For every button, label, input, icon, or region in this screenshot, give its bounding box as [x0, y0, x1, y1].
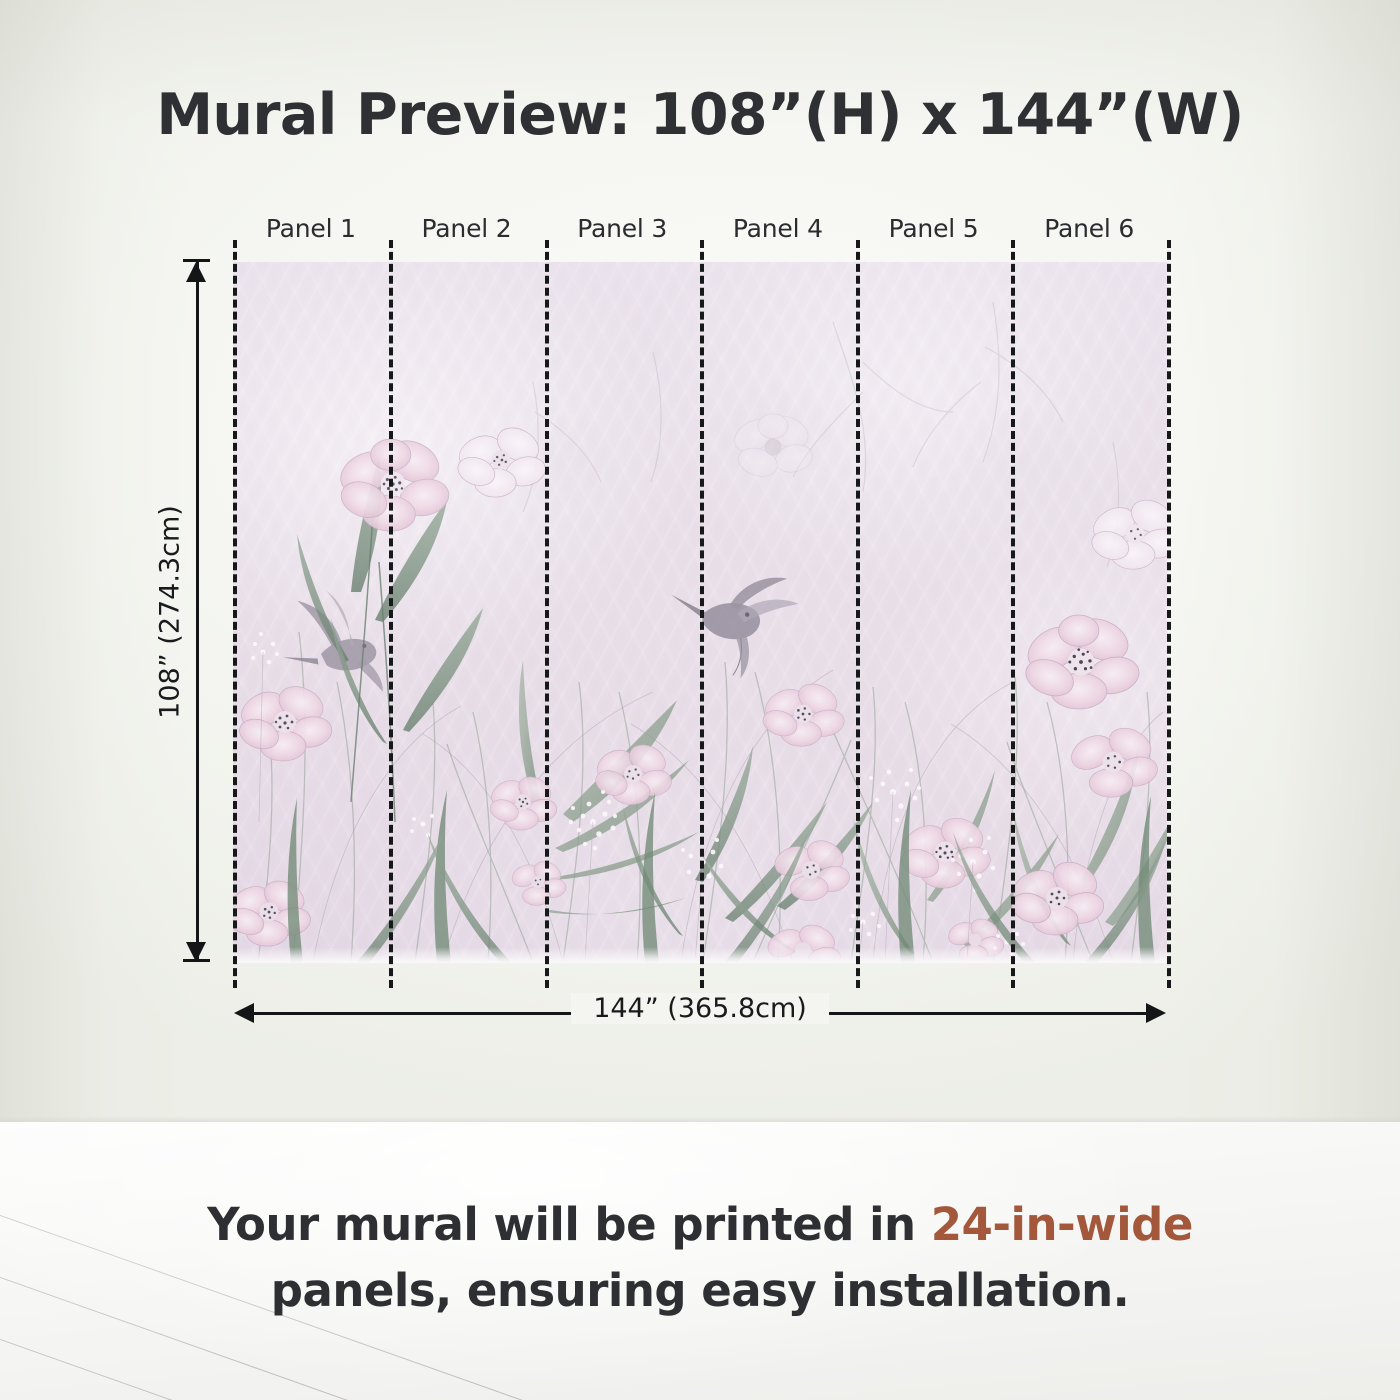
panel-label-6: Panel 6	[1011, 212, 1167, 246]
height-arrow-up	[186, 262, 206, 282]
panel-label-1: Panel 1	[233, 212, 389, 246]
panel-divider-2	[545, 240, 549, 988]
page-title: Mural Preview: 108”(H) x 144”(W)	[0, 82, 1400, 148]
caption-line-1: Your mural will be printed in 24-in-wide	[0, 1192, 1400, 1258]
caption-line-2: panels, ensuring easy installation.	[0, 1258, 1400, 1324]
width-dimension-text: 144” (365.8cm)	[571, 993, 829, 1024]
panel-label-2: Panel 2	[389, 212, 545, 246]
width-dimension-label: 144” (365.8cm)	[0, 993, 1400, 1024]
caption-block: Your mural will be printed in 24-in-wide…	[0, 1192, 1400, 1324]
panel-divider-left-edge	[233, 240, 237, 988]
panel-label-5: Panel 5	[856, 212, 1012, 246]
caption-accent-text: 24-in-wide	[931, 1198, 1193, 1251]
panel-divider-1	[389, 240, 393, 988]
wall-right-shading	[1170, 0, 1400, 1122]
panel-divider-3	[700, 240, 704, 988]
panel-divider-4	[856, 240, 860, 988]
height-arrow-down	[186, 942, 206, 962]
height-dimension-line	[196, 262, 199, 962]
height-dimension-label: 108” (274.3cm)	[155, 505, 186, 719]
panel-divider-5	[1011, 240, 1015, 988]
caption-line-1-text: Your mural will be printed in	[207, 1198, 931, 1251]
panel-label-4: Panel 4	[700, 212, 856, 246]
panel-label-3: Panel 3	[544, 212, 700, 246]
mural-preview-scene: Mural Preview: 108”(H) x 144”(W) Panel 1…	[0, 0, 1400, 1400]
panel-divider-right-edge	[1167, 240, 1171, 988]
